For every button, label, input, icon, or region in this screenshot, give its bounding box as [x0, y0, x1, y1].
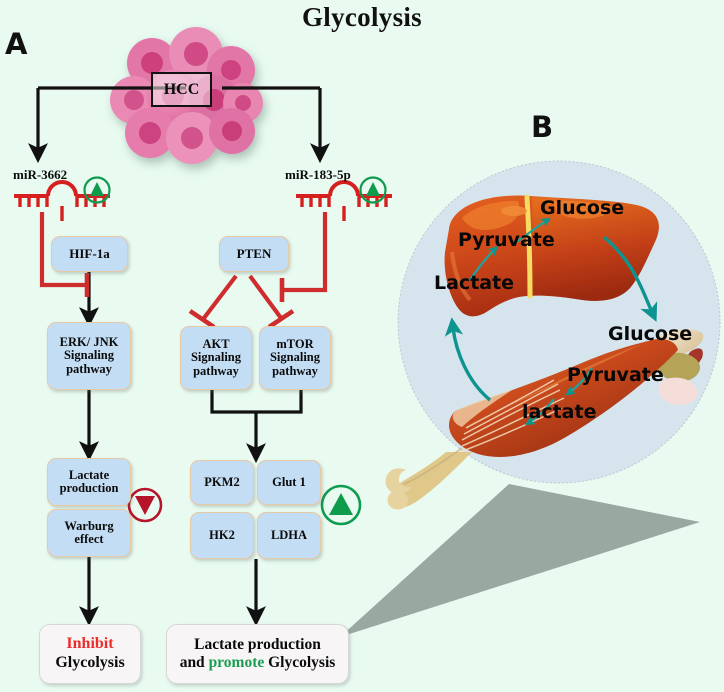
mirna-label-left: miR-3662	[13, 167, 67, 183]
figure-title: Glycolysis	[0, 2, 724, 33]
hcc-label-box: HCC	[151, 72, 212, 107]
node-mtor-line-1: mTOR	[276, 338, 313, 351]
node-lactate-line-1: Lactate	[69, 469, 109, 482]
liver-glucose-label: Glucose	[540, 197, 624, 219]
muscle-glucose-label: Glucose	[608, 323, 692, 345]
outcome-inhibit-glycolysis[interactable]: Inhibit Glycolysis	[39, 624, 141, 684]
outcome-right-line-1: Lactate production	[194, 636, 321, 654]
node-pten[interactable]: PTEN	[219, 236, 289, 272]
node-erk-line-3: pathway	[66, 363, 112, 376]
liver-lactate-label: Lactate	[434, 272, 514, 294]
node-akt-pathway[interactable]: AKT Signaling pathway	[180, 326, 252, 390]
node-warburg-line-1: Warburg	[64, 520, 113, 533]
figure-canvas: Glycolysis A B HCC miR-3662 miR-183-5p H…	[0, 0, 724, 692]
node-lactate-production[interactable]: Lactate production	[47, 458, 131, 506]
node-erk-line-1: ERK/ JNK	[60, 336, 119, 349]
up-arrow-green-badge-mir183	[361, 178, 386, 203]
node-mtor-pathway[interactable]: mTOR Signaling pathway	[259, 326, 331, 390]
muscle-lactate-label: lactate	[522, 401, 596, 423]
node-glut1[interactable]: Glut 1	[257, 460, 321, 505]
node-ldha[interactable]: LDHA	[257, 512, 321, 559]
node-hk2-label: HK2	[209, 529, 235, 542]
node-warburg-effect[interactable]: Warburg effect	[47, 509, 131, 557]
node-ldha-label: LDHA	[271, 529, 307, 542]
outcome-right-word-promote: promote	[209, 654, 265, 671]
outcome-right-line-2: and promote Glycolysis	[180, 654, 336, 672]
muscle-pyruvate-label: Pyruvate	[567, 364, 664, 386]
node-erk-jnk-pathway[interactable]: ERK/ JNK Signaling pathway	[47, 322, 131, 390]
outcome-left-line-1: Inhibit	[66, 635, 113, 654]
node-hif1a[interactable]: HIF-1a	[51, 236, 128, 272]
down-arrow-red-badge-lactate	[129, 489, 161, 521]
node-hif1a-label: HIF-1a	[69, 247, 109, 261]
node-mtor-line-2: Signaling	[270, 351, 320, 364]
outcome-left-line-2: Glycolysis	[55, 654, 124, 673]
hcc-label: HCC	[164, 81, 200, 99]
liver-pyruvate-label: Pyruvate	[458, 229, 555, 251]
node-pkm2[interactable]: PKM2	[190, 460, 254, 505]
panel-letter-b: B	[531, 110, 553, 144]
node-akt-line-1: AKT	[202, 338, 229, 351]
node-lactate-line-2: production	[60, 482, 119, 495]
node-mtor-line-3: pathway	[272, 365, 318, 378]
node-warburg-line-2: effect	[74, 533, 103, 546]
mirna-label-right: miR-183-5p	[285, 167, 351, 183]
outcome-lactate-promote-glycolysis[interactable]: Lactate production and promote Glycolysi…	[166, 624, 349, 684]
up-arrow-green-badge-mir3662	[85, 178, 110, 203]
node-akt-line-3: pathway	[193, 365, 239, 378]
outcome-right-word-glycolysis: Glycolysis	[264, 654, 335, 671]
node-glut1-label: Glut 1	[272, 476, 306, 489]
node-pkm2-label: PKM2	[204, 476, 239, 489]
node-erk-line-2: Signaling	[64, 349, 114, 362]
panel-letter-a: A	[5, 27, 27, 61]
up-arrow-green-badge-enzymes	[322, 486, 360, 524]
node-akt-line-2: Signaling	[191, 351, 241, 364]
outcome-right-word-and: and	[180, 654, 209, 671]
node-hk2[interactable]: HK2	[190, 512, 254, 559]
node-pten-label: PTEN	[237, 247, 272, 261]
